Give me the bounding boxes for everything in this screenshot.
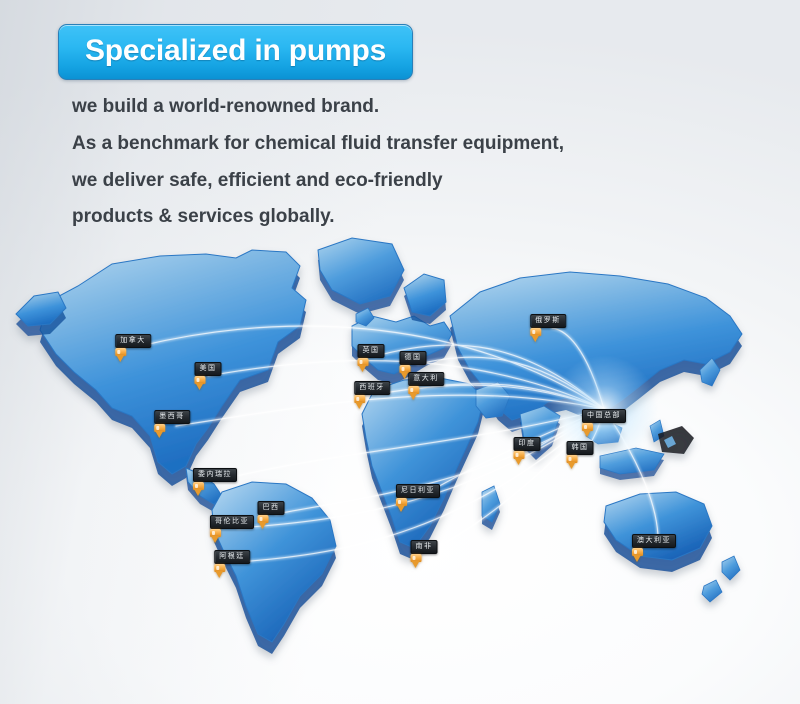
map-marker-label: 委内瑞拉 (193, 468, 237, 482)
map-marker-label: 巴西 (258, 501, 285, 515)
map-marker-north-america-2[interactable]: 墨西哥 (154, 410, 190, 424)
promo-banner-page: Specialized in pumps we build a world-re… (0, 0, 800, 704)
intro-copy: we build a world-renowned brand. As a be… (72, 92, 772, 239)
map-marker-asia-8[interactable]: 中国总部 (582, 409, 626, 423)
map-marker-label: 德国 (400, 351, 427, 365)
map-marker-europe-4[interactable]: 德国 (400, 351, 427, 365)
map-marker-europe-3[interactable]: 英国 (358, 344, 385, 358)
map-marker-south-america-14[interactable]: 阿根廷 (214, 550, 250, 564)
map-marker-label: 墨西哥 (154, 410, 190, 424)
map-marker-africa-16[interactable]: 南非 (411, 540, 438, 554)
intro-line-4: products & services globally. (72, 202, 772, 233)
map-marker-label: 阿根廷 (214, 550, 250, 564)
map-marker-south-america-13[interactable]: 哥伦比亚 (210, 515, 254, 529)
intro-line-3: we deliver safe, efficient and eco-frien… (72, 166, 772, 197)
map-marker-europe-7[interactable]: 意大利 (408, 372, 444, 386)
map-marker-label: 澳大利亚 (632, 534, 676, 548)
map-marker-label: 南非 (411, 540, 438, 554)
world-distribution-map (0, 230, 800, 670)
map-marker-south-america-12[interactable]: 巴西 (258, 501, 285, 515)
map-marker-label: 西班牙 (354, 381, 390, 395)
map-marker-label: 哥伦比亚 (210, 515, 254, 529)
page-title-banner: Specialized in pumps (58, 24, 413, 80)
intro-line-1: we build a world-renowned brand. (72, 92, 772, 123)
map-marker-asia-5[interactable]: 俄罗斯 (530, 314, 566, 328)
map-marker-label: 英国 (358, 344, 385, 358)
map-marker-europe-6[interactable]: 西班牙 (354, 381, 390, 395)
map-marker-label: 尼日利亚 (396, 484, 440, 498)
intro-line-2: As a benchmark for chemical fluid transf… (72, 129, 772, 160)
map-marker-oceania-17[interactable]: 澳大利亚 (632, 534, 676, 548)
map-marker-label: 中国总部 (582, 409, 626, 423)
map-marker-north-america-1[interactable]: 美国 (195, 362, 222, 376)
page-title: Specialized in pumps (85, 36, 386, 66)
map-marker-africa-15[interactable]: 尼日利亚 (396, 484, 440, 498)
map-marker-label: 美国 (195, 362, 222, 376)
map-marker-label: 意大利 (408, 372, 444, 386)
map-marker-label: 俄罗斯 (530, 314, 566, 328)
map-marker-label: 印度 (514, 437, 541, 451)
map-marker-asia-10[interactable]: 韩国 (567, 441, 594, 455)
map-marker-north-america-0[interactable]: 加拿大 (115, 334, 151, 348)
map-marker-label: 加拿大 (115, 334, 151, 348)
map-marker-label: 韩国 (567, 441, 594, 455)
map-marker-asia-9[interactable]: 印度 (514, 437, 541, 451)
map-marker-south-america-11[interactable]: 委内瑞拉 (193, 468, 237, 482)
